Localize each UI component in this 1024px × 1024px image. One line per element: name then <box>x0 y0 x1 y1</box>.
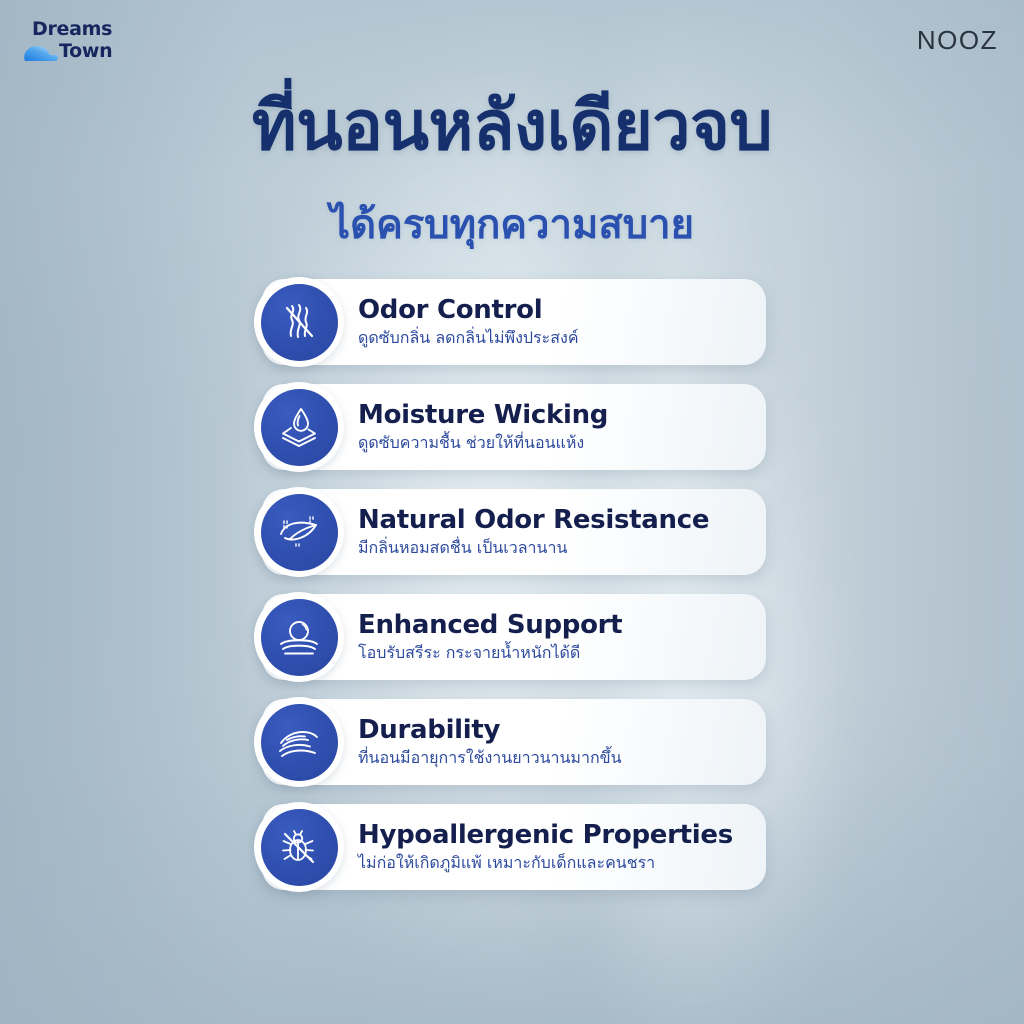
icon-badge <box>254 382 344 472</box>
logo-text-line1: Dreams <box>32 18 112 40</box>
dreams-town-logo: Dreams Town <box>22 18 192 70</box>
card-subtitle: มีกลิ่นหอมสดชื่น เป็นเวลานาน <box>358 538 709 558</box>
card-subtitle: ที่นอนมีอายุการใช้งานยาวนานมากขึ้น <box>358 748 622 768</box>
card-subtitle: ดูดซับความชื้น ช่วยให้ที่นอนแห้ง <box>358 433 608 453</box>
dust-mite-slash-icon <box>275 823 323 871</box>
feature-card[interactable]: Moisture Wicking ดูดซับความชื้น ช่วยให้ท… <box>262 384 766 470</box>
icon-badge <box>254 487 344 577</box>
icon-circle <box>261 809 338 886</box>
icon-circle <box>261 389 338 466</box>
card-text: Durability ที่นอนมีอายุการใช้งานยาวนานมา… <box>358 716 634 768</box>
sphere-on-waves-icon <box>275 613 323 661</box>
card-title: Durability <box>358 716 622 745</box>
icon-circle <box>261 284 338 361</box>
icon-badge <box>254 802 344 892</box>
card-text: Natural Odor Resistance มีกลิ่นหอมสดชื่น… <box>358 506 721 558</box>
card-title: Hypoallergenic Properties <box>358 821 733 850</box>
card-text: Enhanced Support โอบรับสรีระ กระจายน้ำหน… <box>358 611 634 663</box>
logo-text-line2: Town <box>59 40 112 62</box>
card-text: Odor Control ดูดซับกลิ่น ลดกลิ่นไม่พึงปร… <box>358 296 591 348</box>
water-droplet-layers-icon <box>275 403 323 451</box>
feature-card-list: Odor Control ดูดซับกลิ่น ลดกลิ่นไม่พึงปร… <box>262 279 766 909</box>
icon-badge <box>254 592 344 682</box>
leaf-sparkle-icon <box>275 508 323 556</box>
icon-badge <box>254 697 344 787</box>
odor-waves-slash-icon <box>275 298 323 346</box>
card-subtitle: ไม่ก่อให้เกิดภูมิแพ้ เหมาะกับเด็กและคนชร… <box>358 853 733 873</box>
icon-circle <box>261 704 338 781</box>
card-text: Moisture Wicking ดูดซับความชื้น ช่วยให้ท… <box>358 401 620 453</box>
feature-card[interactable]: Durability ที่นอนมีอายุการใช้งานยาวนานมา… <box>262 699 766 785</box>
poster-canvas: Dreams Town NOOZ ที่นอนหลังเดียวจบ ได้คร… <box>0 0 1024 1024</box>
card-title: Odor Control <box>358 296 579 325</box>
card-subtitle: โอบรับสรีระ กระจายน้ำหนักได้ดี <box>358 643 622 663</box>
card-title: Enhanced Support <box>358 611 622 640</box>
hand-support-icon <box>275 718 323 766</box>
icon-circle <box>261 494 338 571</box>
page-title: ที่นอนหลังเดียวจบ <box>0 92 1024 161</box>
icon-badge <box>254 277 344 367</box>
feature-card[interactable]: Natural Odor Resistance มีกลิ่นหอมสดชื่น… <box>262 489 766 575</box>
card-title: Natural Odor Resistance <box>358 506 709 535</box>
feature-card[interactable]: Enhanced Support โอบรับสรีระ กระจายน้ำหน… <box>262 594 766 680</box>
card-title: Moisture Wicking <box>358 401 608 430</box>
nooz-wordmark: NOOZ <box>917 25 998 56</box>
feature-card[interactable]: Hypoallergenic Properties ไม่ก่อให้เกิดภ… <box>262 804 766 890</box>
page-subtitle: ได้ครบทุกความสบาย <box>0 192 1024 256</box>
icon-circle <box>261 599 338 676</box>
card-text: Hypoallergenic Properties ไม่ก่อให้เกิดภ… <box>358 821 745 873</box>
card-subtitle: ดูดซับกลิ่น ลดกลิ่นไม่พึงประสงค์ <box>358 328 579 348</box>
cloud-icon <box>22 44 58 62</box>
feature-card[interactable]: Odor Control ดูดซับกลิ่น ลดกลิ่นไม่พึงปร… <box>262 279 766 365</box>
